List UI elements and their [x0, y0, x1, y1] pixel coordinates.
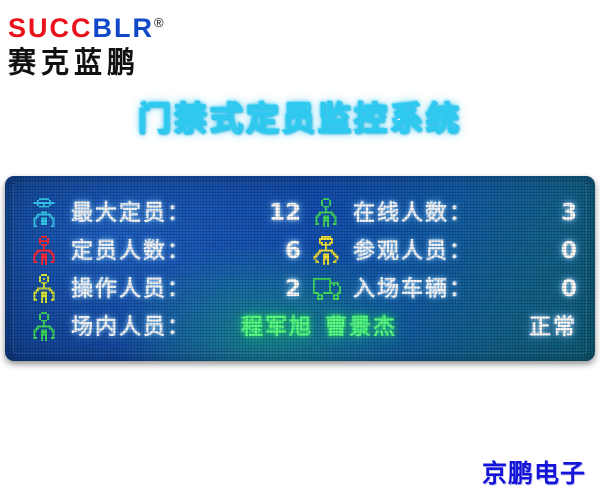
led-content-grid: 最大定员： 12: [23, 192, 581, 349]
logo-wordmark-secondary: BLR: [93, 13, 155, 43]
company-logo: SUCCBLR® 赛克蓝鹏: [8, 8, 238, 78]
visitor-person-icon: [311, 236, 341, 267]
led-field-operator-count: 操作人员： 2: [23, 270, 305, 309]
onsite-name: 程军旭: [241, 315, 313, 340]
person-quota-icon: [29, 236, 59, 267]
led-label: 操作人员：: [71, 270, 191, 309]
led-label: 在线人数：: [353, 194, 473, 233]
led-field-quota-count: 定员人数： 6: [23, 232, 305, 271]
led-value: 0: [561, 270, 577, 309]
led-row: 定员人数： 6: [23, 232, 581, 271]
led-field-visitor-count: 参观人员： 0: [305, 232, 581, 271]
led-label: 场内人员：: [71, 308, 191, 347]
person-online-icon: [311, 198, 341, 229]
logo-chinese-name: 赛克蓝鹏: [8, 45, 238, 81]
status-badge: 正常: [529, 308, 577, 347]
led-field-onsite-personnel: 场内人员： 程军旭曹景杰 正常: [23, 308, 581, 347]
led-display-panel: 最大定员： 12: [5, 176, 595, 361]
logo-wordmark: SUCCBLR®: [8, 8, 238, 43]
led-row: 最大定员： 12: [23, 194, 581, 233]
led-label: 入场车辆：: [353, 270, 473, 309]
led-value: 0: [561, 232, 577, 271]
led-value: 12: [269, 194, 301, 233]
led-row: 操作人员： 2: [23, 270, 581, 309]
led-value: 2: [285, 270, 301, 309]
led-row: 场内人员： 程军旭曹景杰 正常: [23, 308, 581, 347]
led-onsite-names: 程军旭曹景杰: [241, 308, 397, 347]
operator-person-icon: [29, 274, 59, 305]
onsite-name: 曹景杰: [325, 315, 397, 340]
led-label: 最大定员：: [71, 194, 191, 233]
page-title: 门禁式定员监控系统: [0, 92, 600, 140]
footer-brand: 京鹏电子: [482, 454, 586, 490]
led-label: 定员人数：: [71, 232, 191, 271]
registered-trademark-icon: ®: [154, 15, 164, 30]
worker-helmet-person-icon: [29, 198, 59, 229]
led-field-online-count: 在线人数： 3: [305, 194, 581, 233]
led-label: 参观人员：: [353, 232, 473, 271]
truck-icon: [311, 274, 341, 305]
logo-wordmark-primary: SUCC: [8, 13, 93, 43]
led-field-max-capacity: 最大定员： 12: [23, 194, 305, 233]
led-value: 6: [285, 232, 301, 271]
led-value: 3: [561, 194, 577, 233]
person-onsite-icon: [29, 312, 59, 343]
led-field-entering-vehicles: 入场车辆： 0: [305, 270, 581, 309]
